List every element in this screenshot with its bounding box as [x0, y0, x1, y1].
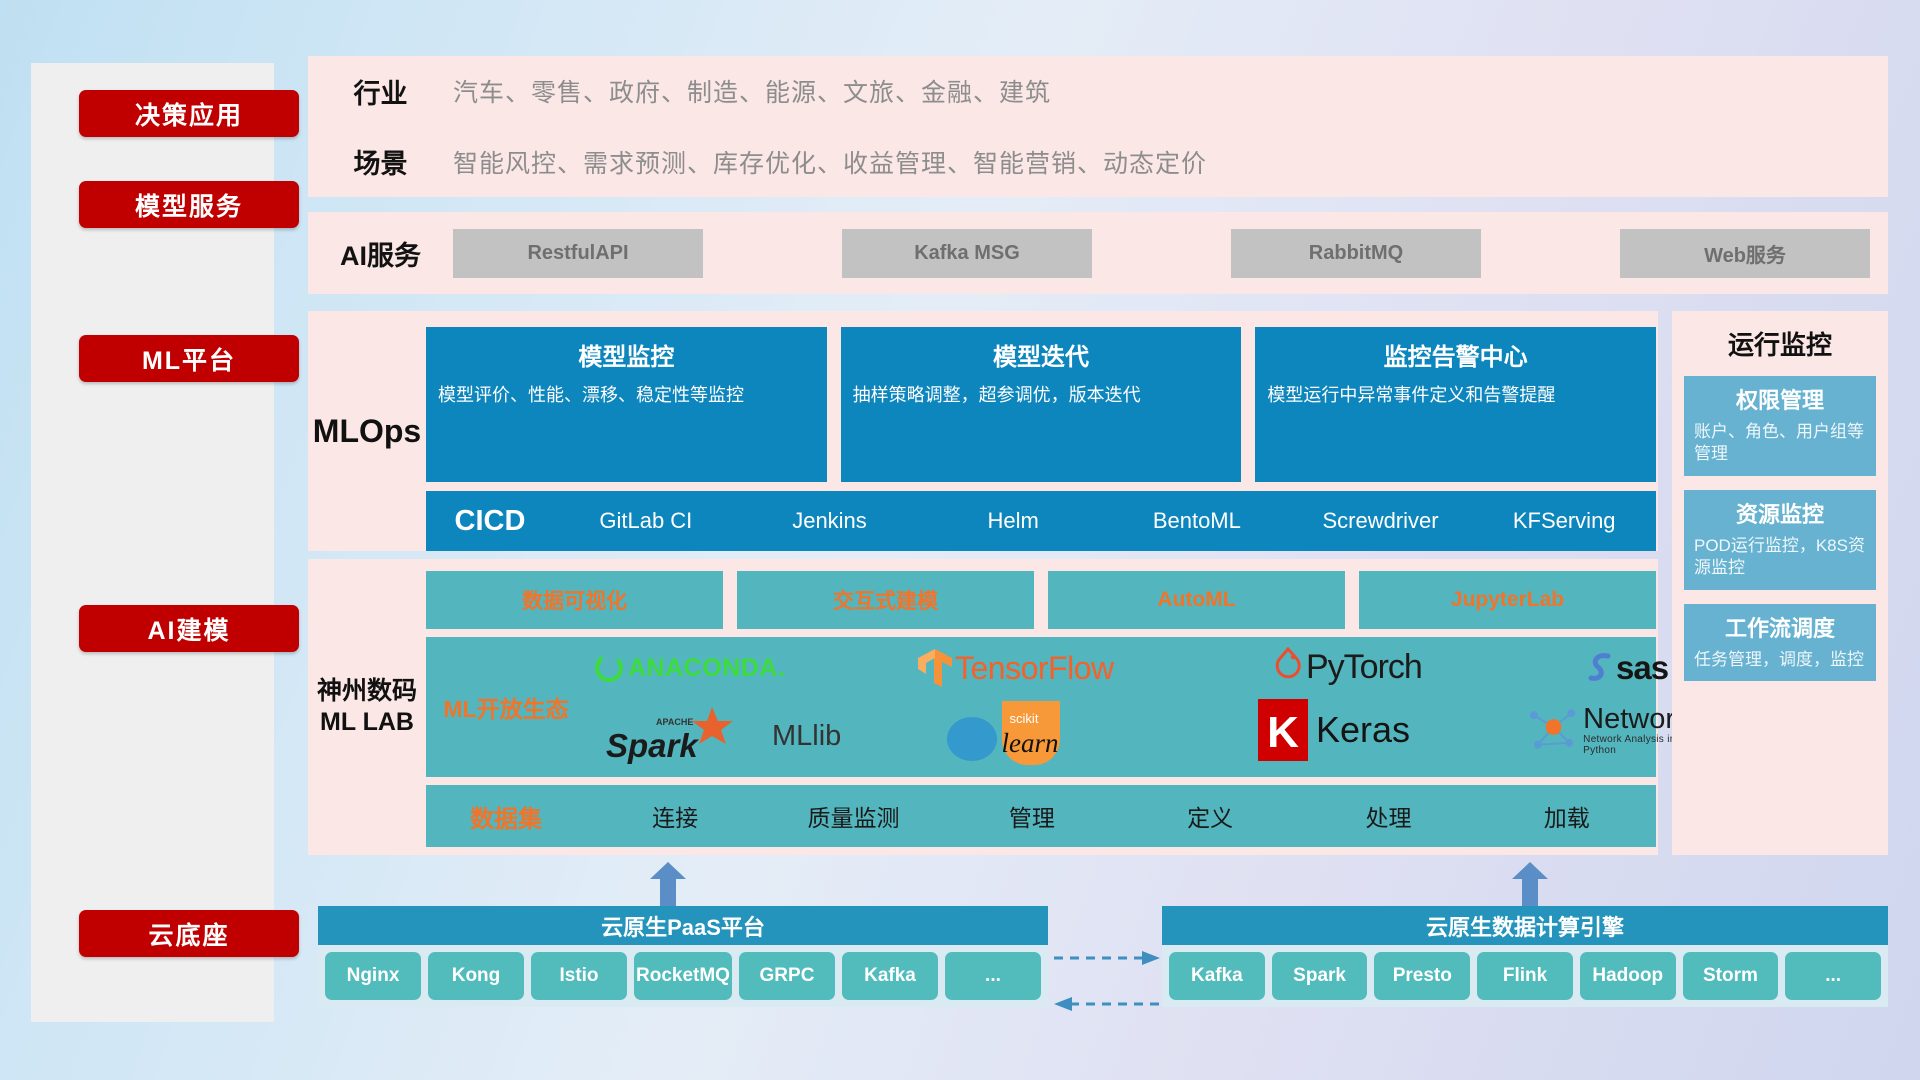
dataset-label: 数据集: [426, 799, 586, 834]
tensorflow-logo: TensorFlow: [916, 647, 1114, 689]
data-engine-pill-list: Kafka Spark Presto Flink Hadoop Storm ..…: [1162, 945, 1888, 1007]
pill-grpc[interactable]: GRPC: [739, 952, 835, 1000]
pill-kafka[interactable]: Kafka: [842, 952, 938, 1000]
card-title: 模型迭代: [853, 337, 1230, 372]
ai-service-chip-list: RestfulAPI Kafka MSG RabbitMQ Web服务: [453, 229, 1888, 278]
arrow-right-icon: [1142, 951, 1160, 965]
ecosystem-logo-grid: ANACONDA. TensorFlow PyTorch: [586, 637, 1656, 777]
spark-mllib-logo: APACHE Spark MLlib: [604, 705, 841, 767]
dataset-item-quality[interactable]: 质量监测: [764, 799, 942, 833]
tensorflow-logo-text: TensorFlow: [955, 650, 1114, 687]
pytorch-logo: PyTorch: [1274, 647, 1422, 687]
card-desc: 模型评价、性能、漂移、稳定性等监控: [438, 383, 815, 407]
card-title: 模型监控: [438, 337, 815, 372]
ml-open-ecosystem-row: ML开放生态 ANACONDA. TensorFlow: [426, 637, 1656, 777]
mon-card-resource[interactable]: 资源监控 POD运行监控，K8S资源监控: [1684, 490, 1876, 590]
tool-chip-jupyterlab[interactable]: JupyterLab: [1359, 571, 1656, 629]
industry-row: 行业 汽车、零售、政府、制造、能源、文旅、金融、建筑: [308, 56, 1888, 127]
cicd-item-gitlab-ci[interactable]: GitLab CI: [554, 510, 738, 532]
svg-text:scikit: scikit: [1010, 711, 1039, 726]
ai-service-band: AI服务 RestfulAPI Kafka MSG RabbitMQ Web服务: [308, 212, 1888, 294]
paas-platform-title: 云原生PaaS平台: [318, 906, 1048, 945]
cicd-item-screwdriver[interactable]: Screwdriver: [1289, 510, 1473, 532]
pill-nginx[interactable]: Nginx: [325, 952, 421, 1000]
keras-logo-text: Keras: [1316, 709, 1410, 751]
pill-storm[interactable]: Storm: [1683, 952, 1779, 1000]
paas-pill-list: Nginx Kong Istio RocketMQ GRPC Kafka ...: [318, 945, 1048, 1007]
tool-chip-automl[interactable]: AutoML: [1048, 571, 1345, 629]
dataset-item-connect[interactable]: 连接: [586, 799, 764, 833]
cicd-item-bentoml[interactable]: BentoML: [1105, 510, 1289, 532]
cicd-item-jenkins[interactable]: Jenkins: [738, 510, 922, 532]
card-desc: 任务管理，调度，监控: [1694, 649, 1866, 671]
pill-rocketmq[interactable]: RocketMQ: [634, 952, 732, 1000]
dataset-row: 数据集 连接 质量监测 管理 定义 处理 加载: [426, 785, 1656, 847]
card-title: 工作流调度: [1694, 611, 1866, 643]
pytorch-logo-text: PyTorch: [1306, 648, 1422, 687]
card-title: 监控告警中心: [1267, 337, 1644, 372]
rail-tag-ai-modeling[interactable]: AI建模: [79, 605, 299, 652]
rail-tag-model-service[interactable]: 模型服务: [79, 181, 299, 228]
cicd-label: CICD: [426, 505, 554, 538]
modeling-tool-list: 数据可视化 交互式建模 AutoML JupyterLab: [426, 571, 1656, 629]
pill-flink[interactable]: Flink: [1477, 952, 1573, 1000]
mlops-card-alert-center[interactable]: 监控告警中心 模型运行中异常事件定义和告警提醒: [1255, 327, 1656, 482]
ai-service-chip[interactable]: RabbitMQ: [1231, 229, 1481, 278]
ml-lab-label-line1: 神州数码: [317, 676, 417, 707]
ai-service-chip[interactable]: Kafka MSG: [842, 229, 1092, 278]
rail-tag-decision[interactable]: 决策应用: [79, 90, 299, 137]
diagram-canvas: 决策应用 模型服务 ML平台 AI建模 云底座 行业 汽车、零售、政府、制造、能…: [0, 0, 1920, 1080]
svg-text:K: K: [1267, 708, 1299, 757]
data-engine-platform: 云原生数据计算引擎 Kafka Spark Presto Flink Hadoo…: [1162, 906, 1888, 1007]
arrow-left-icon: [1054, 997, 1072, 1011]
layer-rail: 决策应用 模型服务 ML平台 AI建模 云底座: [31, 63, 274, 1022]
ml-lab-label-line2: ML LAB: [320, 707, 414, 738]
scikit-learn-logo: scikit learn: [944, 699, 1090, 767]
ml-lab-label: 神州数码 ML LAB: [308, 559, 426, 855]
paas-up-arrow-icon: [648, 862, 688, 904]
runtime-monitoring-title: 运行监控: [1672, 311, 1888, 362]
mllib-text: MLlib: [772, 720, 841, 753]
ml-platform-band: MLOps 模型监控 模型评价、性能、漂移、稳定性等监控 模型迭代 抽样策略调整…: [308, 311, 1658, 551]
keras-logo: K Keras: [1258, 699, 1410, 761]
pill-hadoop[interactable]: Hadoop: [1580, 952, 1676, 1000]
rail-tag-ml-platform[interactable]: ML平台: [79, 335, 299, 382]
ml-open-ecosystem-label: ML开放生态: [426, 690, 586, 724]
dataset-item-define[interactable]: 定义: [1121, 799, 1299, 833]
industry-label: 行业: [308, 72, 453, 111]
mlops-label: MLOps: [308, 311, 426, 551]
anaconda-logo: ANACONDA.: [592, 651, 785, 685]
svg-text:learn: learn: [1002, 728, 1059, 758]
pill-kong[interactable]: Kong: [428, 952, 524, 1000]
data-engine-platform-title: 云原生数据计算引擎: [1162, 906, 1888, 945]
cicd-row: CICD GitLab CI Jenkins Helm BentoML Scre…: [426, 491, 1656, 551]
mon-card-workflow[interactable]: 工作流调度 任务管理，调度，监控: [1684, 604, 1876, 681]
ai-modeling-band: 神州数码 ML LAB 数据可视化 交互式建模 AutoML JupyterLa…: [308, 559, 1658, 855]
svg-text:Spark: Spark: [606, 727, 699, 764]
pill-istio[interactable]: Istio: [531, 952, 627, 1000]
scenario-value: 智能风控、需求预测、库存优化、收益管理、智能营销、动态定价: [453, 144, 1207, 180]
card-desc: POD运行监控，K8S资源监控: [1694, 535, 1866, 580]
card-title: 权限管理: [1694, 383, 1866, 415]
pill-presto[interactable]: Presto: [1374, 952, 1470, 1000]
scenario-row: 场景 智能风控、需求预测、库存优化、收益管理、智能营销、动态定价: [308, 127, 1888, 198]
mlops-card-model-iteration[interactable]: 模型迭代 抽样策略调整，超参调优，版本迭代: [841, 327, 1242, 482]
svg-text:APACHE: APACHE: [656, 717, 693, 727]
pill-spark[interactable]: Spark: [1272, 952, 1368, 1000]
ai-service-chip[interactable]: Web服务: [1620, 229, 1870, 278]
platform-link-arrows: [1052, 946, 1162, 1018]
anaconda-logo-text: ANACONDA.: [628, 654, 785, 683]
sas-logo: sas: [1586, 649, 1668, 687]
sas-logo-text: sas: [1616, 649, 1668, 687]
cicd-item-kfserving[interactable]: KFServing: [1472, 510, 1656, 532]
dataset-item-process[interactable]: 处理: [1299, 799, 1477, 833]
ai-service-chip[interactable]: RestfulAPI: [453, 229, 703, 278]
industry-value: 汽车、零售、政府、制造、能源、文旅、金融、建筑: [453, 73, 1051, 109]
data-engine-up-arrow-icon: [1510, 862, 1550, 904]
ai-service-label: AI服务: [308, 234, 453, 273]
tool-chip-interactive-modeling[interactable]: 交互式建模: [737, 571, 1034, 629]
scenario-label: 场景: [308, 142, 453, 181]
mon-card-permission[interactable]: 权限管理 账户、角色、用户组等管理: [1684, 376, 1876, 476]
pill-kafka[interactable]: Kafka: [1169, 952, 1265, 1000]
rail-tag-cloud-base[interactable]: 云底座: [79, 910, 299, 957]
paas-platform: 云原生PaaS平台 Nginx Kong Istio RocketMQ GRPC…: [318, 906, 1048, 1007]
mlops-card-model-monitoring[interactable]: 模型监控 模型评价、性能、漂移、稳定性等监控: [426, 327, 827, 482]
pill-more[interactable]: ...: [945, 952, 1041, 1000]
pill-more[interactable]: ...: [1785, 952, 1881, 1000]
card-desc: 账户、角色、用户组等管理: [1694, 421, 1866, 466]
cicd-item-helm[interactable]: Helm: [921, 510, 1105, 532]
card-title: 资源监控: [1694, 497, 1866, 529]
industry-scenario-band: 行业 汽车、零售、政府、制造、能源、文旅、金融、建筑 场景 智能风控、需求预测、…: [308, 56, 1888, 197]
tool-chip-data-visualization[interactable]: 数据可视化: [426, 571, 723, 629]
dataset-item-manage[interactable]: 管理: [943, 799, 1121, 833]
card-desc: 模型运行中异常事件定义和告警提醒: [1267, 383, 1644, 407]
card-desc: 抽样策略调整，超参调优，版本迭代: [853, 383, 1230, 407]
runtime-monitoring-band: 运行监控 权限管理 账户、角色、用户组等管理 资源监控 POD运行监控，K8S资…: [1672, 311, 1888, 855]
dataset-item-load[interactable]: 加载: [1478, 799, 1656, 833]
mlops-card-list: 模型监控 模型评价、性能、漂移、稳定性等监控 模型迭代 抽样策略调整，超参调优，…: [426, 327, 1656, 482]
